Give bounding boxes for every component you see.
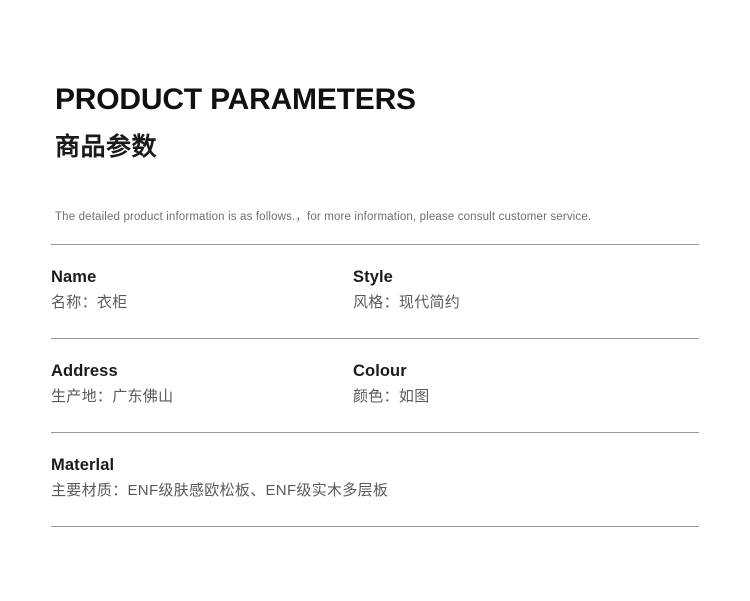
spec-cell-material: Materlal 主要材质：ENF级肤感欧松板、ENF级实木多层板	[51, 455, 655, 500]
page-title-chinese: 商品参数	[55, 134, 705, 162]
spec-value: 主要材质：ENF级肤感欧松板、ENF级实木多层板	[51, 481, 655, 501]
spec-label: Colour	[353, 361, 655, 382]
spec-value: 名称：衣柜	[51, 293, 353, 313]
table-footer-space	[0, 527, 750, 575]
table-row: Address 生产地：广东佛山 Colour 颜色：如图	[51, 339, 699, 432]
spec-cell-style: Style 风格：现代简约	[353, 267, 655, 312]
product-parameters-page: PRODUCT PARAMETERS 商品参数 The detailed pro…	[0, 0, 750, 601]
spec-cell-name: Name 名称：衣柜	[51, 267, 353, 312]
spec-label: Materlal	[51, 455, 655, 476]
specification-table: Name 名称：衣柜 Style 风格：现代简约 Address 生产地：广东佛…	[0, 244, 750, 575]
spec-value: 生产地：广东佛山	[51, 387, 353, 407]
spec-cell-colour: Colour 颜色：如图	[353, 361, 655, 406]
spec-label: Address	[51, 361, 353, 382]
table-row: Name 名称：衣柜 Style 风格：现代简约	[51, 245, 699, 338]
page-subtitle: The detailed product information is as f…	[55, 210, 591, 225]
spec-label: Name	[51, 267, 353, 288]
spec-label: Style	[353, 267, 655, 288]
table-row: Materlal 主要材质：ENF级肤感欧松板、ENF级实木多层板	[51, 433, 699, 526]
spec-cell-address: Address 生产地：广东佛山	[51, 361, 353, 406]
page-header: PRODUCT PARAMETERS 商品参数 The detailed pro…	[55, 84, 705, 162]
spec-value: 风格：现代简约	[353, 293, 655, 313]
spec-value: 颜色：如图	[353, 387, 655, 407]
page-title-english: PRODUCT PARAMETERS	[55, 84, 705, 116]
